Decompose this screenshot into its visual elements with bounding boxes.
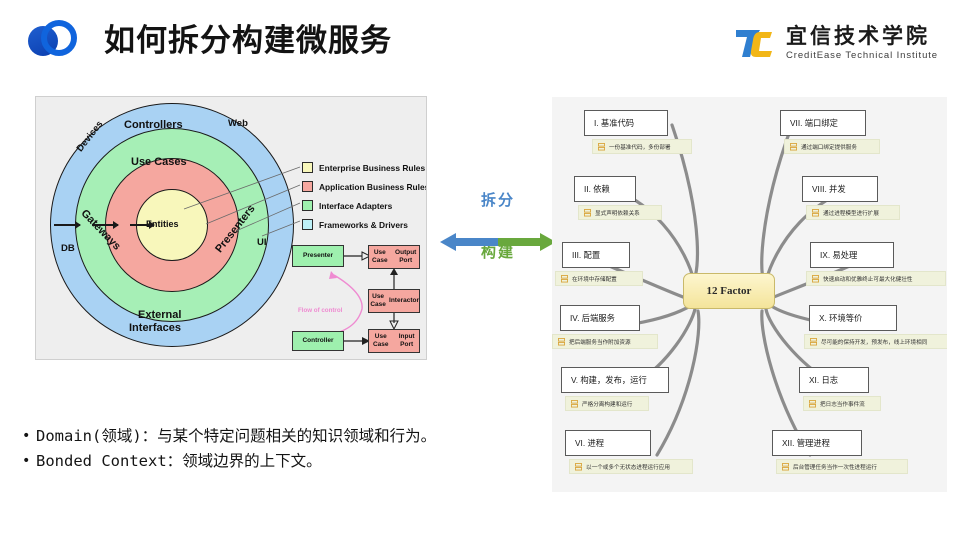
- note-text: 以一个或多个无状态进程运行应用: [586, 463, 670, 471]
- inward-arrow-2: [92, 224, 118, 226]
- mindmap-note-6: 以一个或多个无状态进程运行应用: [569, 459, 693, 474]
- label-interfaces: Interfaces: [129, 322, 181, 334]
- mindmap-node-6[interactable]: VI. 进程: [565, 430, 651, 456]
- note-icon: [809, 400, 816, 408]
- note-icon: [782, 463, 789, 471]
- institute-logo: 宜信技术学院 CreditEase Technical Institute: [734, 20, 938, 66]
- legend-swatch-frameworks: [302, 219, 313, 230]
- tc-monogram-logo-icon: [734, 26, 776, 60]
- mindmap-note-4: 把后端服务当作附加资源: [552, 334, 658, 349]
- box-presenter: Presenter: [292, 245, 344, 267]
- institute-name-cn: 宜信技术学院: [786, 26, 938, 47]
- institute-name-en: CreditEase Technical Institute: [786, 51, 938, 61]
- note-icon: [575, 463, 582, 471]
- bullet-text: Domain(领域)：与某个特定问题相关的知识领域和行为。: [36, 424, 436, 449]
- box-line-2: Output Port: [392, 249, 419, 265]
- box-use-case-input-port: Use Case Input Port: [368, 329, 420, 353]
- box-line-2: Input Port: [394, 333, 419, 349]
- mindmap-note-5: 严格分离构建和运行: [565, 396, 649, 411]
- legend-item: Application Business Rules: [302, 178, 427, 195]
- slide-header: 如何拆分构建微服务 宜信技术学院 CreditEase Technical In…: [0, 0, 960, 84]
- arrows-svg: [440, 228, 556, 256]
- bullet-marker: •: [22, 449, 36, 474]
- two-circles-logo-icon: [28, 18, 90, 64]
- inward-arrow-1: [54, 224, 80, 226]
- bullet-item: • Domain(领域)：与某个特定问题相关的知识领域和行为。: [22, 424, 522, 449]
- legend-item: Enterprise Business Rules: [302, 159, 427, 176]
- note-text: 一份基准代码，多份部署: [609, 143, 671, 151]
- flow-of-control-diagram: Presenter Use Case Output Port Use Case …: [292, 245, 424, 353]
- note-text: 通过端口绑定提供服务: [801, 143, 857, 151]
- legend-item: Frameworks & Drivers: [302, 216, 427, 233]
- label-external: External: [138, 309, 181, 321]
- legend-swatch-enterprise: [302, 162, 313, 173]
- note-text: 显式声明依赖关系: [595, 209, 640, 217]
- mindmap-node-9[interactable]: IX. 易处理: [810, 242, 894, 268]
- label-controllers: Controllers: [124, 119, 183, 131]
- label-web: Web: [228, 118, 248, 129]
- box-controller: Controller: [292, 331, 344, 351]
- mindmap-node-2[interactable]: II. 依赖: [574, 176, 636, 202]
- note-text: 把日志当作事件流: [820, 400, 865, 408]
- bullet-text: Bonded Context：领域边界的上下文。: [36, 449, 322, 474]
- box-line-1: Use Case: [369, 249, 391, 265]
- legend-swatch-adapters: [302, 200, 313, 211]
- legend-swatch-application: [302, 181, 313, 192]
- note-text: 通过进程模型进行扩展: [823, 209, 879, 217]
- concentric-rings: Controllers Use Cases Entities Web UI DB…: [50, 103, 294, 353]
- page-title: 如何拆分构建微服务: [104, 18, 392, 63]
- note-icon: [571, 400, 578, 408]
- mindmap-note-3: 在环境中存储配置: [555, 271, 643, 286]
- label-use-cases: Use Cases: [131, 156, 187, 168]
- logo-outline-circle: [41, 20, 77, 56]
- label-db: DB: [61, 243, 75, 254]
- note-text: 把后端服务当作附加资源: [569, 338, 631, 346]
- legend-item: Interface Adapters: [302, 197, 427, 214]
- legend-label: Interface Adapters: [319, 201, 392, 211]
- note-text: 尽可能的保持开发，预发布，线上环境相同: [821, 338, 927, 346]
- label-ui: UI: [257, 237, 267, 248]
- note-text: 严格分离构建和运行: [582, 400, 632, 408]
- bullet-list: • Domain(领域)：与某个特定问题相关的知识领域和行为。 • Bonded…: [22, 424, 522, 474]
- note-icon: [584, 209, 591, 217]
- split-label: 拆分: [440, 190, 556, 212]
- institute-text: 宜信技术学院 CreditEase Technical Institute: [786, 26, 938, 61]
- flow-of-control-label: Flow of control: [298, 307, 342, 314]
- mindmap-node-8[interactable]: VIII. 并发: [802, 176, 878, 202]
- note-icon: [810, 338, 817, 346]
- mindmap-note-11: 把日志当作事件流: [803, 396, 881, 411]
- mindmap-note-1: 一份基准代码，多份部署: [592, 139, 692, 154]
- note-icon: [812, 209, 819, 217]
- mindmap-note-10: 尽可能的保持开发，预发布，线上环境相同: [804, 334, 947, 349]
- box-use-case-output-port: Use Case Output Port: [368, 245, 420, 269]
- mindmap-note-2: 显式声明依赖关系: [578, 205, 662, 220]
- legend-label: Application Business Rules: [319, 182, 427, 192]
- mindmap-node-10[interactable]: X. 环境等价: [809, 305, 897, 331]
- legend-label: Frameworks & Drivers: [319, 220, 408, 230]
- mindmap-node-11[interactable]: XI. 日志: [799, 367, 869, 393]
- mindmap-node-5[interactable]: V. 构建，发布，运行: [561, 367, 669, 393]
- legend: Enterprise Business Rules Application Bu…: [302, 159, 427, 235]
- split-build-indicator: 拆分 构建: [440, 190, 556, 295]
- tc-monogram-svg: [734, 26, 776, 60]
- bullet-item: • Bonded Context：领域边界的上下文。: [22, 449, 522, 474]
- box-line-1: Use Case: [369, 293, 387, 309]
- note-text: 在环境中存储配置: [572, 275, 617, 283]
- mindmap-center-node[interactable]: 12 Factor: [683, 273, 775, 309]
- note-icon: [790, 143, 797, 151]
- box-line-2: Interactor: [389, 297, 419, 305]
- mindmap-note-8: 通过进程模型进行扩展: [806, 205, 900, 220]
- mindmap-note-9: 快速启动和优雅终止可最大化健壮性: [806, 271, 946, 286]
- note-icon: [812, 275, 819, 283]
- mindmap-node-3[interactable]: III. 配置: [562, 242, 630, 268]
- note-icon: [561, 275, 568, 283]
- note-text: 快速启动和优雅终止可最大化健壮性: [823, 275, 913, 283]
- twelve-factor-mindmap: I. 基准代码 一份基准代码，多份部署 II. 依赖 显式声明依赖关系 III.…: [552, 97, 947, 492]
- box-use-case-interactor: Use Case Interactor: [368, 289, 420, 313]
- mindmap-node-1[interactable]: I. 基准代码: [584, 110, 668, 136]
- mindmap-note-7: 通过端口绑定提供服务: [784, 139, 880, 154]
- inward-arrow-3: [130, 224, 154, 226]
- note-icon: [598, 143, 605, 151]
- box-line-1: Use Case: [369, 333, 393, 349]
- bidirectional-arrows-icon: [440, 228, 556, 256]
- legend-label: Enterprise Business Rules: [319, 163, 425, 173]
- mindmap-node-4[interactable]: IV. 后端服务: [560, 305, 640, 331]
- mindmap-node-7[interactable]: VII. 端口绑定: [780, 110, 866, 136]
- mindmap-node-12[interactable]: XII. 管理进程: [772, 430, 862, 456]
- note-text: 后台管理任务当作一次性进程运行: [793, 463, 877, 471]
- clean-architecture-figure: Controllers Use Cases Entities Web UI DB…: [35, 96, 427, 360]
- note-icon: [558, 338, 565, 346]
- bullet-marker: •: [22, 424, 36, 449]
- mindmap-note-12: 后台管理任务当作一次性进程运行: [776, 459, 908, 474]
